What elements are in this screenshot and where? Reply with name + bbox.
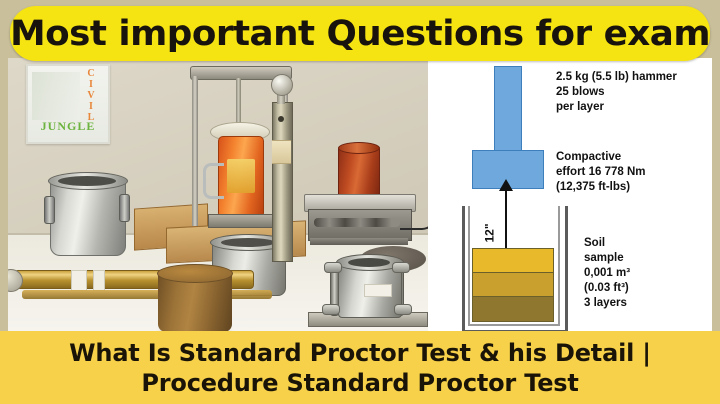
proctor-mold-with-collar	[308, 248, 426, 334]
proctor-test-diagram: 12" 2.5 kg (5.5 lb) hammer 25 blows per …	[428, 58, 712, 334]
bottom-caption-band: What Is Standard Proctor Test & his Deta…	[0, 331, 720, 404]
balance-foot	[310, 238, 408, 245]
content-area: C I V I L JUNGLE	[8, 58, 712, 334]
rammer-vertical	[264, 74, 298, 260]
top-banner-title: Most important Questions for exam	[10, 14, 710, 54]
proctor-mold-left	[44, 170, 130, 256]
diagram-soil-layer-middle	[472, 272, 554, 298]
frame-post-left	[192, 76, 198, 226]
caption-line-1: What Is Standard Proctor Test & his Deta…	[69, 338, 651, 368]
mold-clamp-left	[44, 196, 55, 224]
diagram-compactive-effort-note: Compactive effort 16 778 Nm (12,375 ft-l…	[556, 150, 645, 195]
diagram-soil-sample-note: Soil sample 0,001 m³ (0.03 ft³) 3 layers	[584, 236, 630, 311]
mold-foot-left	[322, 304, 340, 315]
rammer-marker-2	[93, 270, 105, 291]
specimen-top	[157, 264, 233, 283]
rammer-shaft	[272, 102, 293, 262]
logo-letter-i: I	[89, 80, 93, 90]
rammer-marker-1	[71, 270, 87, 291]
diagram-soil-layer-bottom	[472, 296, 554, 322]
mold-clamp-right	[119, 194, 130, 222]
top-banner: Most important Questions for exam	[10, 6, 710, 61]
poster-artwork	[32, 72, 80, 120]
compacted-soil-specimen	[158, 264, 232, 334]
jack-label	[227, 159, 255, 193]
soil-cylinder-top	[338, 142, 380, 154]
frame-center-rod	[236, 78, 241, 124]
logo-letter-v: V	[87, 91, 94, 101]
logo-horizontal-text: JUNGLE	[32, 119, 104, 134]
rammer-horizontal-cap	[8, 269, 23, 292]
mold-label-tag	[364, 284, 392, 297]
mold-collar-opening	[348, 258, 390, 267]
diagram-hammer-note: 2.5 kg (5.5 lb) hammer 25 blows per laye…	[556, 70, 677, 115]
weighing-balance	[304, 180, 414, 254]
hydraulic-jack	[218, 136, 264, 218]
rammer-horizontal-secondary	[22, 290, 272, 299]
mold-foot-right	[394, 304, 412, 315]
logo-letter-i2: I	[89, 102, 93, 112]
logo-vertical-text: C I V I L	[84, 68, 98, 124]
diagram-soil-layer-top	[472, 248, 554, 274]
balance-slot	[314, 218, 400, 227]
mold-wing-nut-right	[392, 262, 410, 273]
diagram-hammer-shaft	[494, 66, 522, 156]
caption-line-2: Procedure Standard Proctor Test	[141, 368, 578, 398]
civil-jungle-logo: C I V I L JUNGLE	[26, 64, 110, 144]
power-cable	[400, 206, 428, 230]
screenshot-root: Most important Questions for exam C I V …	[0, 0, 720, 404]
mold-wing-nut-left	[324, 262, 342, 273]
logo-letter-c: C	[87, 69, 94, 79]
jack-handle	[203, 163, 224, 199]
rammer-hole	[278, 116, 284, 122]
mold-opening	[58, 176, 116, 186]
rammer-tape	[272, 140, 291, 164]
lab-equipment-photo: C I V I L JUNGLE	[8, 58, 428, 334]
soil-sample-cylinder-red	[338, 146, 380, 198]
rammer-ball-knob	[271, 74, 293, 96]
